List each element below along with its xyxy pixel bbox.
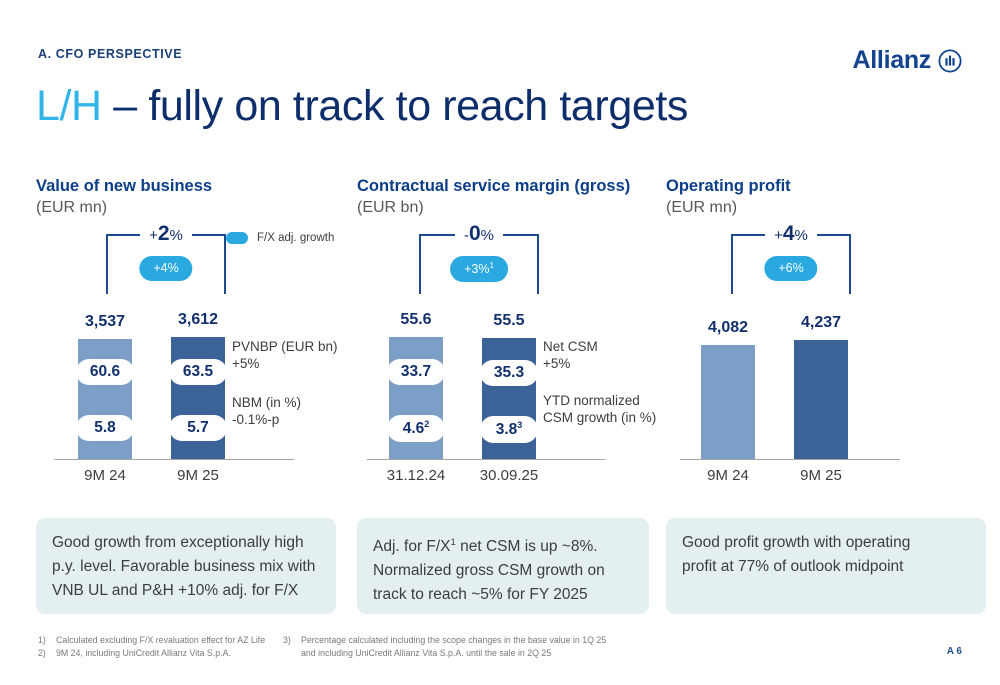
segment-note: NBM (in %) -0.1%-p xyxy=(232,394,301,428)
segment-pill: 35.3 xyxy=(480,360,538,386)
bars-container: 4,082 4,237 xyxy=(666,279,986,459)
commentary-line: Adj. for F/X1 net CSM is up ~8%. xyxy=(373,531,633,559)
panel-title: Value of new business xyxy=(36,176,356,196)
commentary-line: Good profit growth with operating xyxy=(682,531,970,555)
segment-pill: 60.6 xyxy=(76,359,134,385)
growth-percent: % xyxy=(795,227,808,244)
growth-number: 0 xyxy=(469,222,481,245)
logo-wordmark: Allianz xyxy=(853,46,931,75)
bar-light: 60.6 5.8 xyxy=(78,339,132,459)
axis-label: 9M 24 xyxy=(78,467,132,484)
growth-sign: + xyxy=(149,227,158,244)
bar-value-label: 55.5 xyxy=(493,312,524,330)
bar-value-label: 55.6 xyxy=(400,311,431,329)
chart-panel-contractual-service-margin: Contractual service margin (gross) (EUR … xyxy=(357,176,662,218)
growth-percent: % xyxy=(170,227,183,244)
bar-group: 3,537 60.6 5.8 xyxy=(78,279,132,459)
bar-dark xyxy=(794,340,848,459)
footnote-text: 9M 24, including UniCredit Allianz Vita … xyxy=(56,647,231,660)
page-title: L/H – fully on track to reach targets xyxy=(36,82,688,131)
bars-container: 55.6 33.7 4.62 55.5 35.3 3.83 xyxy=(357,279,662,459)
bar-value-label: 3,537 xyxy=(85,313,125,331)
footnote-text: Percentage calculated including the scop… xyxy=(301,634,606,647)
footnote-text: and including UniCredit Allianz Vita S.p… xyxy=(301,647,551,660)
bar-group: 55.6 33.7 4.62 xyxy=(389,279,443,459)
slide: A. CFO PERSPECTIVE Allianz L/H – fully o… xyxy=(0,0,1000,685)
chart-body: +4% +6% 4,082 4,237 9M 24 9M 25 xyxy=(666,232,986,492)
panel-title: Operating profit xyxy=(666,176,986,196)
footnote-row: 3) Percentage calculated including the s… xyxy=(283,634,883,647)
footnote-number: 3) xyxy=(283,634,294,647)
fx-growth-pill: +6% xyxy=(764,256,817,281)
chart-panel-value-of-new-business: Value of new business (EUR mn) +2% +4% 3… xyxy=(36,176,356,218)
bar-value-label: 4,237 xyxy=(801,314,841,332)
segment-note: PVNBP (EUR bn) +5% xyxy=(232,338,338,372)
commentary-box: Good profit growth with operating profit… xyxy=(666,518,986,614)
panel-unit: (EUR bn) xyxy=(357,197,662,218)
bar-dark: 35.3 3.83 xyxy=(482,338,536,459)
bar-dark: 63.5 5.7 xyxy=(171,337,225,459)
bar-group: 3,612 63.5 5.7 xyxy=(171,279,225,459)
growth-label: -0% xyxy=(460,223,498,247)
bar-group: 4,082 xyxy=(701,279,755,459)
axis-label: 30.09.25 xyxy=(470,467,548,484)
footnote-column-left: 1) Calculated excluding F/X revaluation … xyxy=(38,634,278,660)
growth-number: 4 xyxy=(783,222,795,245)
allianz-logo: Allianz xyxy=(853,46,962,75)
commentary-box: Good growth from exceptionally high p.y.… xyxy=(36,518,336,614)
bar-value-label: 4,082 xyxy=(708,319,748,337)
fx-growth-pill: +3%1 xyxy=(450,256,508,282)
footnote-text: Calculated excluding F/X revaluation eff… xyxy=(56,634,265,647)
title-rest: – fully on track to reach targets xyxy=(102,82,688,130)
segment-note: Net CSM +5% xyxy=(543,338,598,372)
segment-pill: 5.8 xyxy=(76,415,134,441)
commentary-line: p.y. level. Favorable business mix with xyxy=(52,555,320,579)
segment-pill: 33.7 xyxy=(387,359,445,385)
panel-unit: (EUR mn) xyxy=(666,197,986,218)
footnote-column-right: 3) Percentage calculated including the s… xyxy=(283,634,883,660)
title-accent: L/H xyxy=(36,82,102,130)
footnote-row: 1) Calculated excluding F/X revaluation … xyxy=(38,634,278,647)
chart-panel-operating-profit: Operating profit (EUR mn) +4% +6% 4,082 … xyxy=(666,176,986,218)
growth-label: +2% xyxy=(145,223,187,247)
axis-label: 31.12.24 xyxy=(377,467,455,484)
commentary-line: Normalized gross CSM growth on xyxy=(373,559,633,583)
axis-line xyxy=(54,459,294,460)
bar-light xyxy=(701,345,755,459)
growth-percent: % xyxy=(481,227,494,244)
footnote-number: 2) xyxy=(38,647,49,660)
axis-label: 9M 25 xyxy=(171,467,225,484)
segment-note: YTD normalized CSM growth (in %) xyxy=(543,392,656,426)
panel-unit: (EUR mn) xyxy=(36,197,356,218)
panel-title: Contractual service margin (gross) xyxy=(357,176,662,196)
bar-group: 55.5 35.3 3.83 xyxy=(482,279,536,459)
bar-value-label: 3,612 xyxy=(178,311,218,329)
commentary-line: profit at 77% of outlook midpoint xyxy=(682,555,970,579)
commentary-line: track to reach ~5% for FY 2025 xyxy=(373,583,633,607)
chart-body: +2% +4% 3,537 60.6 5.8 3,612 63.5 xyxy=(36,232,356,492)
allianz-emblem-icon xyxy=(938,49,962,73)
bar-light: 33.7 4.62 xyxy=(389,337,443,459)
footnote-row: and including UniCredit Allianz Vita S.p… xyxy=(283,647,883,660)
segment-pill: 63.5 xyxy=(169,359,227,385)
segment-pill: 5.7 xyxy=(169,415,227,441)
growth-label: +4% xyxy=(770,223,812,247)
page-number: A 6 xyxy=(947,646,962,657)
commentary-line: VNB UL and P&H +10% adj. for F/X xyxy=(52,579,320,603)
commentary-box: Adj. for F/X1 net CSM is up ~8%. Normali… xyxy=(357,518,649,614)
axis-line xyxy=(680,459,900,460)
footnote-row: 2) 9M 24, including UniCredit Allianz Vi… xyxy=(38,647,278,660)
axis-line xyxy=(367,459,605,460)
axis-label: 9M 25 xyxy=(794,467,848,484)
bar-group: 4,237 xyxy=(794,279,848,459)
fx-growth-pill: +4% xyxy=(139,256,192,281)
segment-pill: 3.83 xyxy=(480,416,538,443)
footnote-number xyxy=(283,647,294,660)
footnote-number: 1) xyxy=(38,634,49,647)
axis-label: 9M 24 xyxy=(701,467,755,484)
chart-body: -0% +3%1 55.6 33.7 4.62 55.5 35.3 3.83 xyxy=(357,232,662,492)
section-eyebrow: A. CFO PERSPECTIVE xyxy=(38,47,182,61)
growth-number: 2 xyxy=(158,222,170,245)
growth-sign: + xyxy=(774,227,783,244)
commentary-line: Good growth from exceptionally high xyxy=(52,531,320,555)
segment-pill: 4.62 xyxy=(387,415,445,442)
